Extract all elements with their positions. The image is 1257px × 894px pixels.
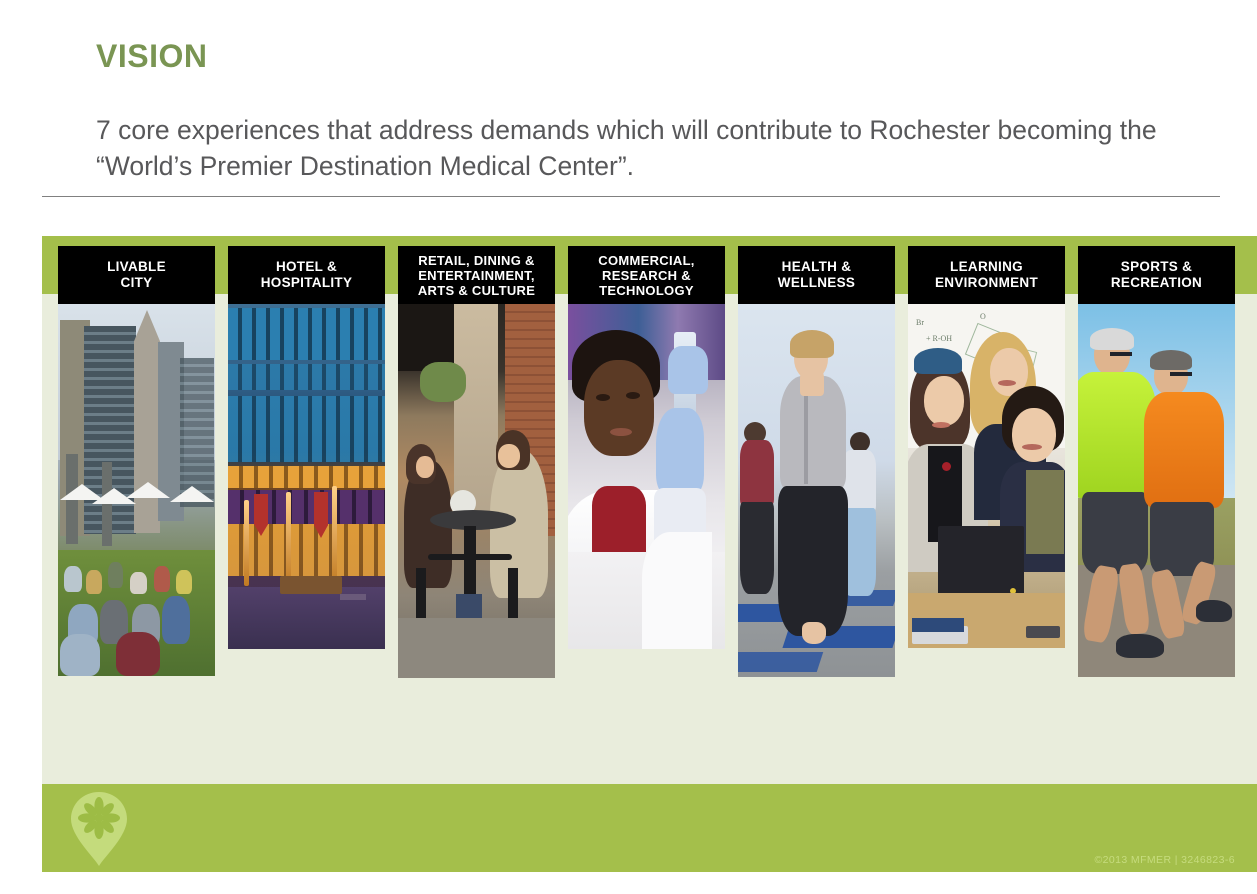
column-header-commercial-research: COMMERCIAL, RESEARCH & TECHNOLOGY: [568, 246, 725, 304]
header-line-1: RETAIL, DINING &: [418, 253, 535, 268]
column-photo-livable-city: [58, 304, 215, 676]
header-line-2: CITY: [121, 275, 153, 290]
slide-header: VISION 7 core experiences that address d…: [0, 0, 1257, 210]
header-line-1: SPORTS &: [1121, 259, 1192, 274]
experience-column-hotel-hospitality[interactable]: HOTEL & HOSPITALITY: [228, 246, 385, 649]
column-header-livable-city: LIVABLE CITY: [58, 246, 215, 304]
column-header-sports-recreation: SPORTS & RECREATION: [1078, 246, 1235, 304]
column-header-learning-environment: LEARNING ENVIRONMENT: [908, 246, 1065, 304]
header-line-2: HOSPITALITY: [261, 275, 353, 290]
column-photo-health-wellness: [738, 304, 895, 677]
experiences-panel: LIVABLE CITY: [42, 236, 1257, 784]
copyright-text: ©2013 MFMER | 3246823-6: [1095, 854, 1235, 866]
slide: VISION 7 core experiences that address d…: [0, 0, 1257, 894]
header-line-2: ENVIRONMENT: [935, 275, 1038, 290]
column-header-hotel-hospitality: HOTEL & HOSPITALITY: [228, 246, 385, 304]
header-line-2: RECREATION: [1111, 275, 1202, 290]
column-photo-retail-dining: [398, 304, 555, 678]
experience-column-health-wellness[interactable]: HEALTH & WELLNESS: [738, 246, 895, 677]
column-header-retail-dining: RETAIL, DINING & ENTERTAINMENT, ARTS & C…: [398, 246, 555, 304]
header-line-1: LIVABLE: [107, 259, 166, 274]
header-line-3: ARTS & CULTURE: [418, 283, 535, 298]
header-line-1: HEALTH &: [782, 259, 852, 274]
header-line-2: RESEARCH &: [602, 268, 691, 283]
header-line-2: ENTERTAINMENT,: [418, 268, 535, 283]
experience-column-commercial-research[interactable]: COMMERCIAL, RESEARCH & TECHNOLOGY: [568, 246, 725, 649]
header-line-1: HOTEL &: [276, 259, 337, 274]
header-divider: [42, 196, 1220, 197]
slide-footer: ©2013 MFMER | 3246823-6: [42, 784, 1257, 872]
header-line-3: TECHNOLOGY: [599, 283, 694, 298]
experience-column-sports-recreation[interactable]: SPORTS & RECREATION: [1078, 246, 1235, 677]
header-line-2: WELLNESS: [778, 275, 855, 290]
page-title: VISION: [96, 38, 207, 75]
page-subtitle: 7 core experiences that address demands …: [96, 112, 1216, 184]
column-photo-commercial-research: [568, 304, 725, 649]
column-photo-hotel-hospitality: [228, 304, 385, 649]
mayo-clinic-map-pin-logo: [64, 790, 134, 868]
header-line-1: LEARNING: [950, 259, 1023, 274]
experience-column-retail-dining[interactable]: RETAIL, DINING & ENTERTAINMENT, ARTS & C…: [398, 246, 555, 678]
column-photo-sports-recreation: [1078, 304, 1235, 677]
experience-columns: LIVABLE CITY: [42, 236, 1257, 784]
header-line-1: COMMERCIAL,: [598, 253, 694, 268]
column-header-health-wellness: HEALTH & WELLNESS: [738, 246, 895, 304]
experience-column-learning-environment[interactable]: LEARNING ENVIRONMENT Br + R-OH O: [908, 246, 1065, 648]
column-photo-learning-environment: Br + R-OH O: [908, 304, 1065, 648]
experience-column-livable-city[interactable]: LIVABLE CITY: [58, 246, 215, 676]
